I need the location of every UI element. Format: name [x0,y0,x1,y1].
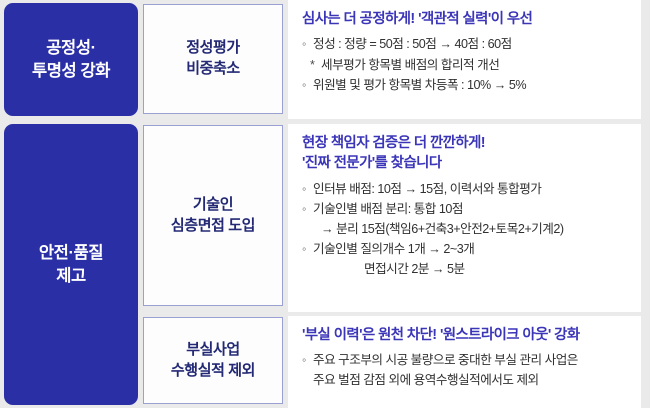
mid-label-text: 기술인 심층면접 도입 [171,195,255,236]
content-panel-qualitative-weight: 심사는 더 공정하게! '객관적 실력'이 우선 ◦정성 : 정량 = 50점 … [288,0,641,119]
bullet-text: 기술인별 질의개수 1개 → 2~3개 [313,242,474,256]
bullet-list: ◦인터뷰 배점: 10점 → 15점, 이력서와 통합평가◦기술인별 배점 분리… [302,180,631,280]
mid-label-cell-engineer-interview: 기술인 심층면접 도입 [143,125,283,306]
bullet-text: 위원별 및 평가 항목별 차등폭 : 10% → 5% [313,78,526,92]
bullet-dot-icon: ◦ [302,180,306,199]
bullet-dot-icon: ◦ [302,351,306,370]
mid-label-text: 정성평가 비중축소 [186,38,240,79]
bullet-item: ◦인터뷰 배점: 10점 → 15점, 이력서와 통합평가 [302,180,631,199]
content-headline: '부실 이력'은 원천 차단! '원스트라이크 아웃' 강화 [302,325,631,345]
bullet-item: ◦위원별 및 평가 항목별 차등폭 : 10% → 5% [302,76,631,95]
infographic-board: 공정성· 투명성 강화 안전·품질 제고 정성평가 비중축소 기술인 심층면접 … [0,0,650,408]
bullet-item: *세부평가 항목별 배점의 합리적 개선 [302,56,631,75]
category-cell-fairness: 공정성· 투명성 강화 [4,3,138,116]
bullet-text: 세부평가 항목별 배점의 합리적 개선 [321,58,499,72]
asterisk-icon: * [310,56,314,75]
content-headline: 심사는 더 공정하게! '객관적 실력'이 우선 [302,9,631,29]
bullet-dot-icon: ◦ [302,76,306,95]
bullet-item: ◦정성 : 정량 = 50점 : 50점 → 40점 : 60점 [302,35,631,54]
category-label: 공정성· 투명성 강화 [32,37,110,81]
bullet-text: 주요 구조부의 시공 불량으로 중대한 부실 관리 사업은 주요 벌점 감점 외… [313,353,578,386]
content-panel-defective-project: '부실 이력'은 원천 차단! '원스트라이크 아웃' 강화 ◦주요 구조부의 … [288,316,641,408]
mid-label-text: 부실사업 수행실적 제외 [171,340,255,381]
bullet-text: 인터뷰 배점: 10점 → 15점, 이력서와 통합평가 [313,182,541,196]
bullet-text: 면접시간 2분 → 5분 [364,262,465,276]
category-label: 안전·품질 제고 [39,242,103,286]
mid-label-cell-qualitative-weight: 정성평가 비중축소 [143,4,283,114]
mid-label-cell-defective-project: 부실사업 수행실적 제외 [143,317,283,404]
content-headline: 현장 책임자 검증은 더 깐깐하게! '진짜 전문가'를 찾습니다 [302,133,631,174]
bullet-text: 기술인별 배점 분리: 통합 10점 [313,202,463,216]
bullet-dot-icon: ◦ [302,35,306,54]
content-panel-engineer-interview: 현장 책임자 검증은 더 깐깐하게! '진짜 전문가'를 찾습니다 ◦인터뷰 배… [288,124,641,312]
category-cell-safety: 안전·품질 제고 [4,124,138,405]
bullet-list: ◦주요 구조부의 시공 불량으로 중대한 부실 관리 사업은 주요 벌점 감점 … [302,351,631,389]
bullet-item: → 분리 15점(책임6+건축3+안전2+토목2+기계2) [302,220,631,239]
bullet-item: ◦기술인별 배점 분리: 통합 10점 [302,200,631,219]
bullet-item: ◦주요 구조부의 시공 불량으로 중대한 부실 관리 사업은 주요 벌점 감점 … [302,351,631,389]
bullet-item: ◦기술인별 질의개수 1개 → 2~3개 [302,240,631,259]
bullet-text: → 분리 15점(책임6+건축3+안전2+토목2+기계2) [321,222,564,236]
bullet-list: ◦정성 : 정량 = 50점 : 50점 → 40점 : 60점*세부평가 항목… [302,35,631,94]
bullet-dot-icon: ◦ [302,200,306,219]
bullet-item: 면접시간 2분 → 5분 [302,260,631,279]
bullet-text: 정성 : 정량 = 50점 : 50점 → 40점 : 60점 [313,37,512,51]
bullet-dot-icon: ◦ [302,240,306,259]
